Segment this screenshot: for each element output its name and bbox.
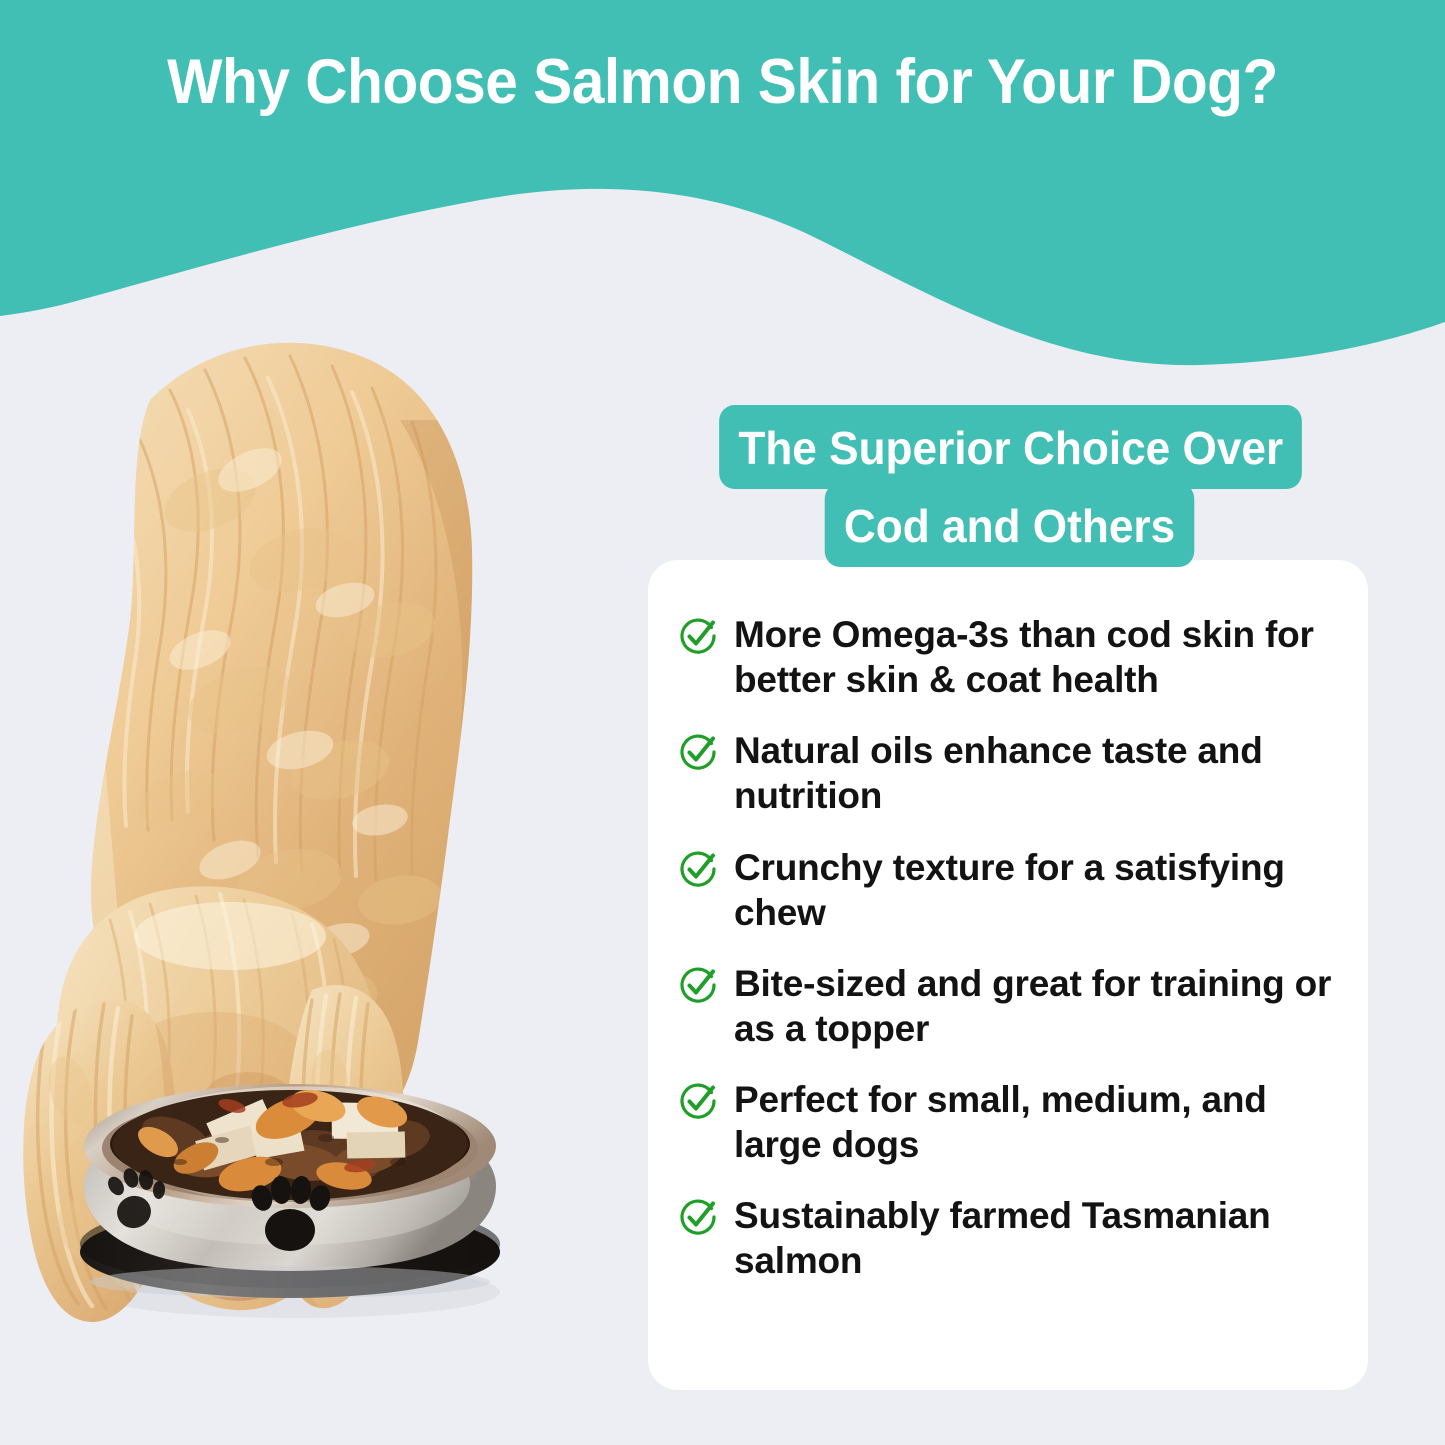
- list-item-label: Perfect for small, medium, and large dog…: [734, 1077, 1334, 1167]
- headline-badge-line-1: The Superior Choice Over: [719, 405, 1302, 489]
- list-item-label: Bite-sized and great for training or as …: [734, 961, 1334, 1051]
- headline-badge: The Superior Choice Over Cod and Others: [640, 405, 1380, 567]
- check-circle-icon: [678, 1197, 718, 1237]
- infographic-canvas: Why Choose Salmon Skin for Your Dog?: [0, 0, 1445, 1445]
- list-item: More Omega-3s than cod skin for better s…: [678, 612, 1334, 702]
- list-item-label: Natural oils enhance taste and nutrition: [734, 728, 1334, 818]
- list-item-label: Crunchy texture for a satisfying chew: [734, 845, 1334, 935]
- check-circle-icon: [678, 732, 718, 772]
- headline-badge-line-2: Cod and Others: [825, 483, 1195, 567]
- list-item: Sustainably farmed Tasmanian salmon: [678, 1193, 1334, 1283]
- check-circle-icon: [678, 1081, 718, 1121]
- list-item: Perfect for small, medium, and large dog…: [678, 1077, 1334, 1167]
- list-item-label: Sustainably farmed Tasmanian salmon: [734, 1193, 1334, 1283]
- list-item: Crunchy texture for a satisfying chew: [678, 845, 1334, 935]
- benefits-list: More Omega-3s than cod skin for better s…: [678, 612, 1334, 1284]
- list-item: Natural oils enhance taste and nutrition: [678, 728, 1334, 818]
- list-item: Bite-sized and great for training or as …: [678, 961, 1334, 1051]
- dog-eating-from-bowl-photo: [0, 300, 560, 1360]
- page-title: Why Choose Salmon Skin for Your Dog?: [51, 48, 1395, 117]
- check-circle-icon: [678, 616, 718, 656]
- check-circle-icon: [678, 849, 718, 889]
- benefits-card: More Omega-3s than cod skin for better s…: [648, 560, 1368, 1390]
- check-circle-icon: [678, 965, 718, 1005]
- list-item-label: More Omega-3s than cod skin for better s…: [734, 612, 1334, 702]
